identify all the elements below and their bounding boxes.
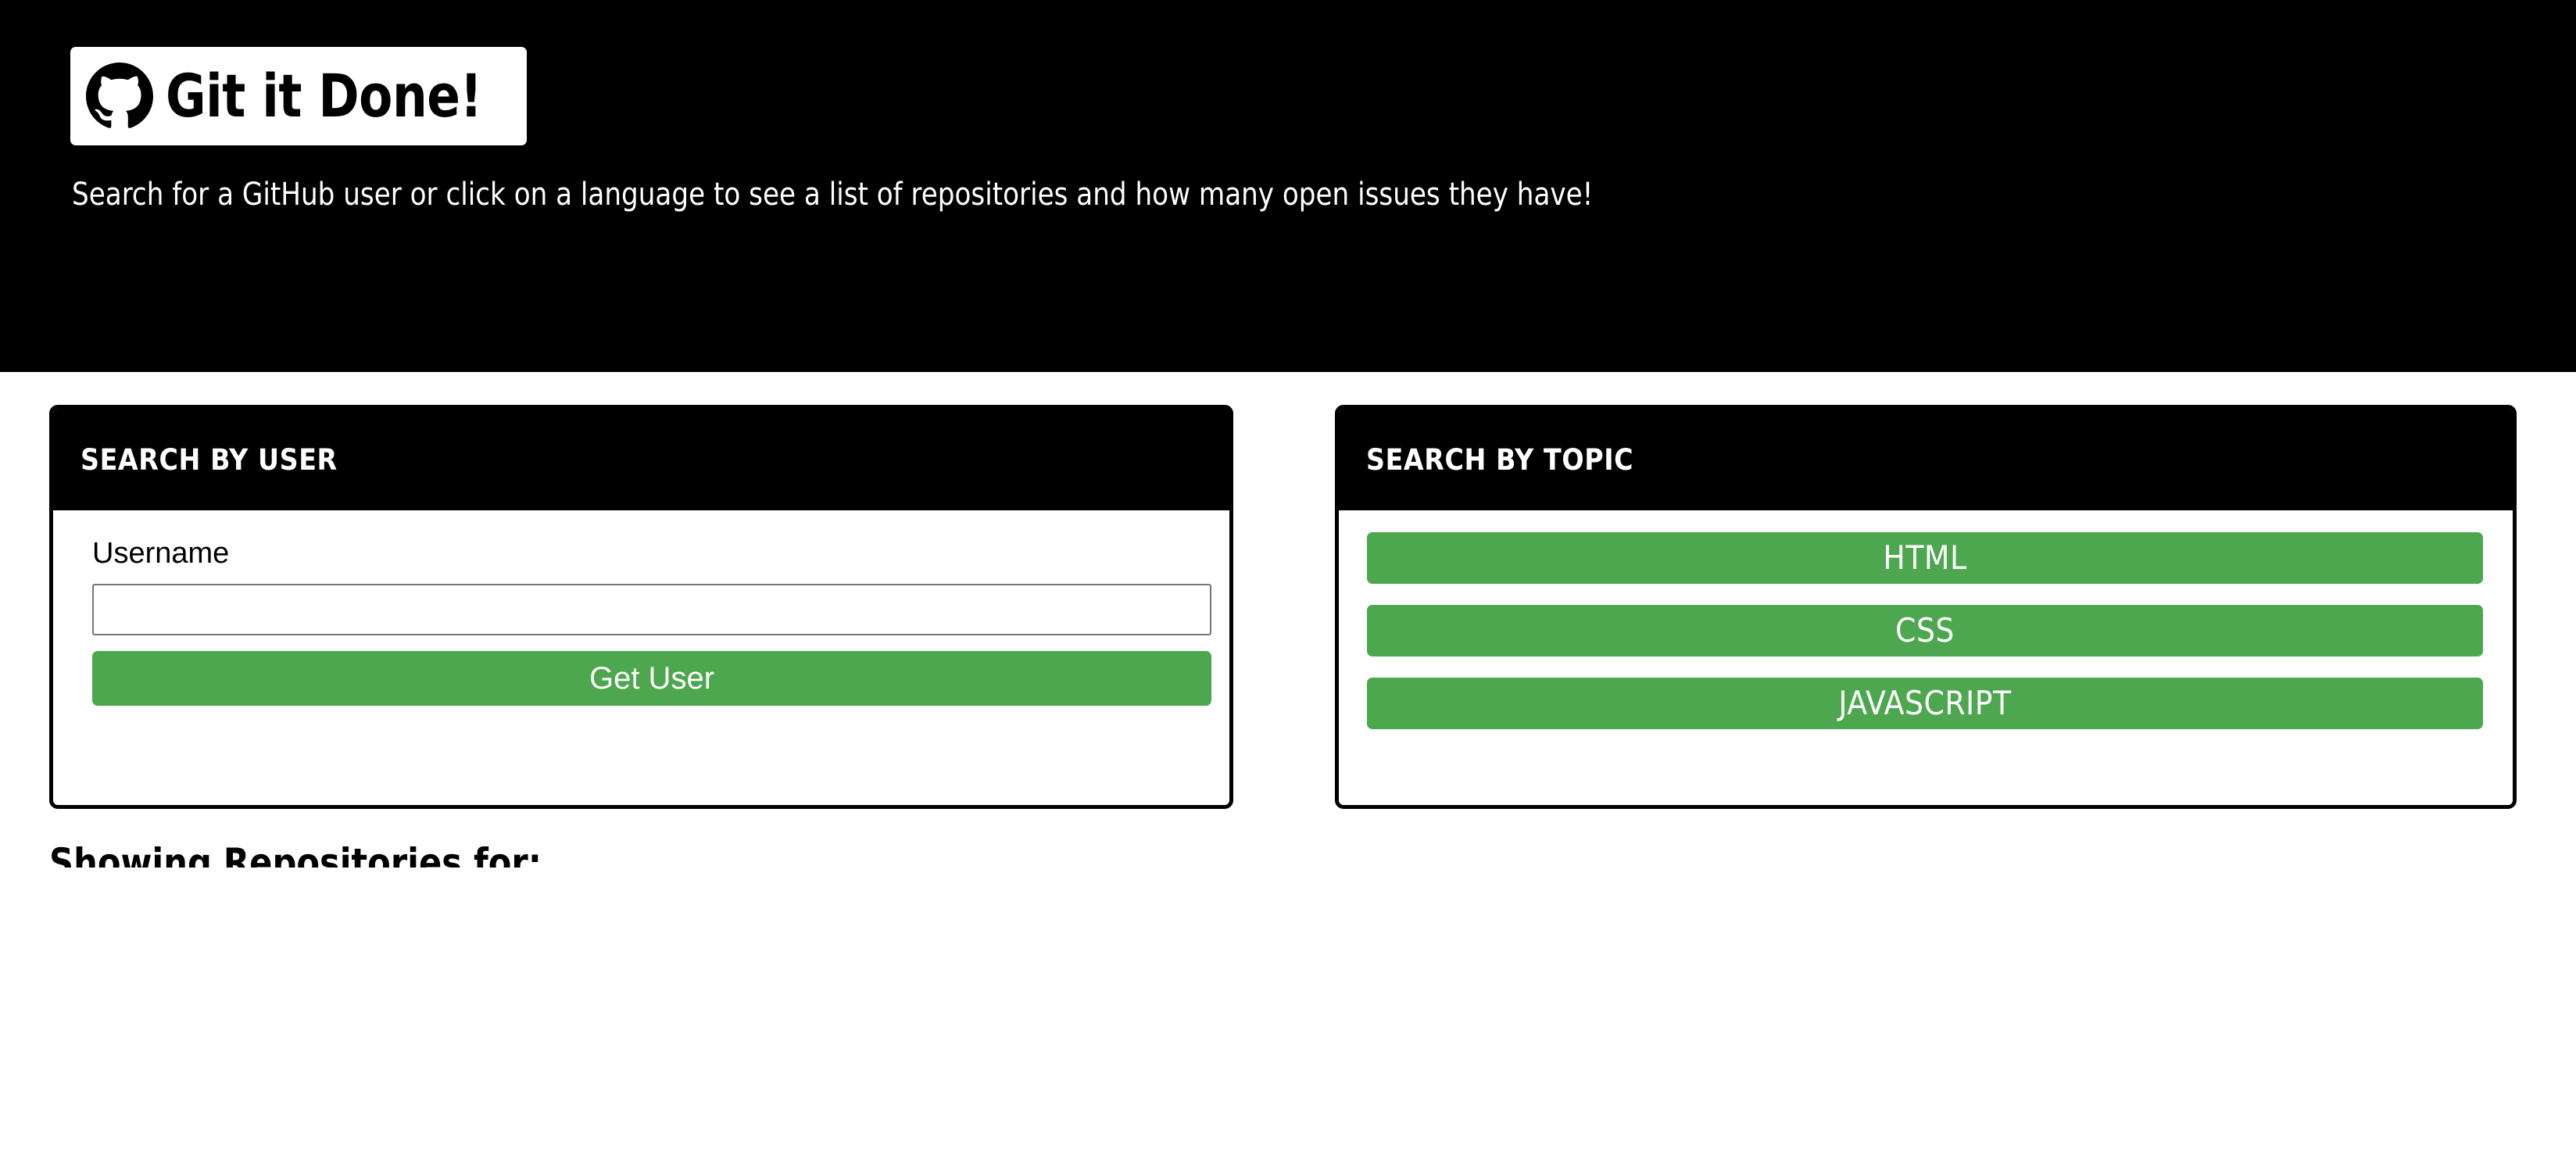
search-by-topic-header: SEARCH BY TOPIC: [1339, 409, 2513, 510]
search-by-user-header: SEARCH BY USER: [53, 409, 1229, 510]
topic-button-javascript[interactable]: JAVASCRIPT: [1367, 678, 2483, 729]
get-user-button[interactable]: Get User: [92, 651, 1211, 706]
topic-button-html[interactable]: HTML: [1367, 532, 2483, 584]
app-title: Git it Done!: [166, 66, 482, 126]
topic-button-list: HTML CSS JAVASCRIPT: [1339, 510, 2513, 729]
github-octocat-icon: [86, 63, 153, 130]
logo-badge: Git it Done!: [70, 47, 527, 145]
app-tagline: Search for a GitHub user or click on a l…: [72, 176, 1593, 213]
search-by-user-card: SEARCH BY USER Username Get User: [49, 405, 1233, 809]
repo-results-list: [0, 868, 2576, 1152]
topic-button-css[interactable]: CSS: [1367, 605, 2483, 656]
username-label: Username: [92, 537, 1200, 571]
search-by-topic-card: SEARCH BY TOPIC HTML CSS JAVASCRIPT: [1335, 405, 2517, 809]
search-by-user-body: Username Get User: [53, 510, 1229, 706]
username-input[interactable]: [92, 584, 1211, 635]
search-by-user-title: SEARCH BY USER: [80, 443, 338, 477]
page-header: Git it Done! Search for a GitHub user or…: [0, 0, 2576, 372]
search-by-topic-title: SEARCH BY TOPIC: [1366, 443, 1633, 477]
